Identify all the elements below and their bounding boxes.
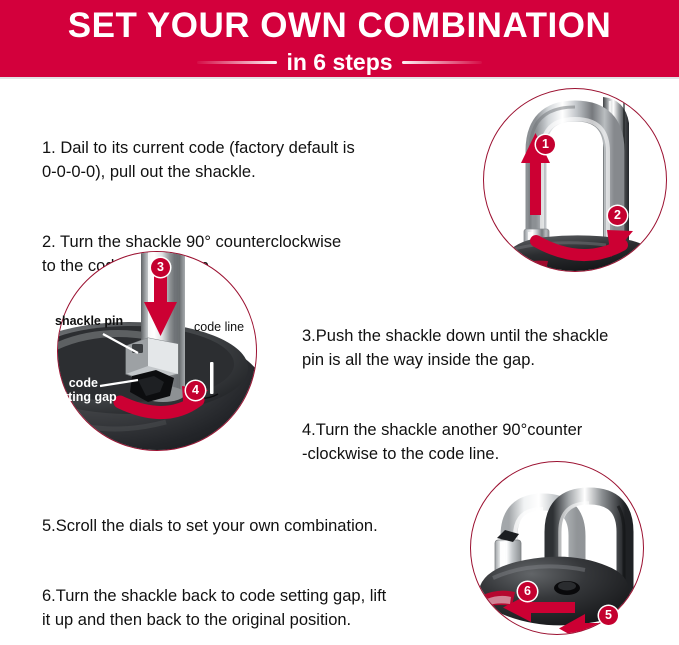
infographic-page: SET YOUR OWN COMBINATION in 6 steps 1. D… (0, 0, 679, 645)
illustration-3-clip (471, 462, 643, 634)
illustration-1-clip (484, 89, 666, 271)
step-3-paragraph: 3.Push the shackle down until the shackl… (302, 324, 674, 372)
subtitle-rule-right (402, 61, 482, 64)
step-5-paragraph: 5.Scroll the dials to set your own combi… (42, 514, 472, 538)
badge-1: 1 (536, 135, 555, 154)
badge-3: 3 (151, 258, 170, 277)
illustration-2-clip (58, 252, 256, 450)
illustration-shackle-pin-detail: shackle pin code setting gap code line 3… (57, 251, 257, 451)
page-title: SET YOUR OWN COMBINATION (0, 6, 679, 46)
badge-6: 6 (518, 582, 537, 601)
step-4-paragraph: 4.Turn the shackle another 90°counter -c… (302, 418, 674, 466)
padlock-reset-diagram (471, 462, 643, 634)
step-1-paragraph: 1. Dail to its current code (factory def… (42, 136, 442, 184)
code-line-tick (210, 362, 214, 394)
header-banner: SET YOUR OWN COMBINATION in 6 steps (0, 0, 679, 77)
badge-4: 4 (186, 381, 205, 400)
subtitle-group: in 6 steps (0, 48, 679, 76)
badge-2: 2 (608, 206, 627, 225)
padlock-pin-gap-diagram (58, 252, 256, 450)
padlock-shackle-diagram-1 (484, 89, 666, 271)
steps-5-6-text: 5.Scroll the dials to set your own combi… (42, 490, 472, 645)
illustration-shackle-pull-rotate: 1 2 (483, 88, 667, 272)
steps-3-4-text: 3.Push the shackle down until the shackl… (302, 300, 674, 490)
badge-5: 5 (599, 606, 618, 625)
label-code-line: code line (194, 320, 244, 334)
banner-divider (0, 77, 679, 79)
label-shackle-pin: shackle pin (55, 314, 123, 328)
label-code-setting-gap: code setting gap (50, 376, 117, 404)
subtitle-rule-left (197, 61, 277, 64)
illustration-dials-reset: 6 5 (470, 461, 644, 635)
step-6-paragraph: 6.Turn the shackle back to code setting … (42, 584, 472, 632)
page-subtitle: in 6 steps (286, 49, 392, 76)
